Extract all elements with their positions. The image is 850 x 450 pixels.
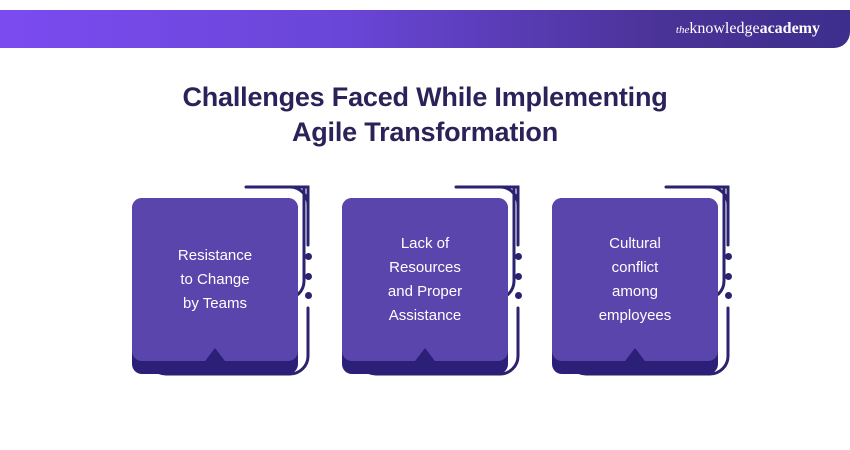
connector-dot bbox=[515, 292, 522, 299]
challenge-card-2[interactable]: Lack of Resources and Proper Assistance bbox=[330, 168, 542, 393]
card-label: Lack of Resources and Proper Assistance bbox=[380, 232, 470, 328]
challenge-cards-row: Resistance to Change by Teams Lack of Re… bbox=[0, 168, 850, 398]
connector-dot bbox=[305, 273, 312, 280]
brand-academy-text: academy bbox=[760, 20, 820, 37]
card-connector-dots bbox=[513, 253, 523, 299]
connector-dot bbox=[305, 253, 312, 260]
card-connector-dots bbox=[723, 253, 733, 299]
challenge-card-1[interactable]: Resistance to Change by Teams bbox=[120, 168, 332, 393]
card-connector-dots bbox=[303, 253, 313, 299]
brand-knowledge-text: knowledge bbox=[689, 20, 759, 37]
challenge-card-3[interactable]: Cultural conflict among employees bbox=[540, 168, 752, 393]
brand-the-text: the bbox=[676, 24, 689, 36]
connector-dot bbox=[515, 273, 522, 280]
connector-dot bbox=[725, 253, 732, 260]
page-title: Challenges Faced While Implementing Agil… bbox=[0, 80, 850, 150]
card-label: Cultural conflict among employees bbox=[591, 232, 680, 328]
card-face[interactable]: Resistance to Change by Teams bbox=[132, 198, 298, 361]
header-band: theknowledgeacademy bbox=[0, 10, 850, 48]
card-label: Resistance to Change by Teams bbox=[170, 244, 260, 316]
connector-dot bbox=[725, 273, 732, 280]
connector-dot bbox=[305, 292, 312, 299]
connector-dot bbox=[725, 292, 732, 299]
card-face[interactable]: Cultural conflict among employees bbox=[552, 198, 718, 361]
connector-dot bbox=[515, 253, 522, 260]
page-title-line-2: Agile Transformation bbox=[0, 115, 850, 150]
page-title-line-1: Challenges Faced While Implementing bbox=[0, 80, 850, 115]
card-face[interactable]: Lack of Resources and Proper Assistance bbox=[342, 198, 508, 361]
brand-logo: theknowledgeacademy bbox=[676, 21, 820, 37]
